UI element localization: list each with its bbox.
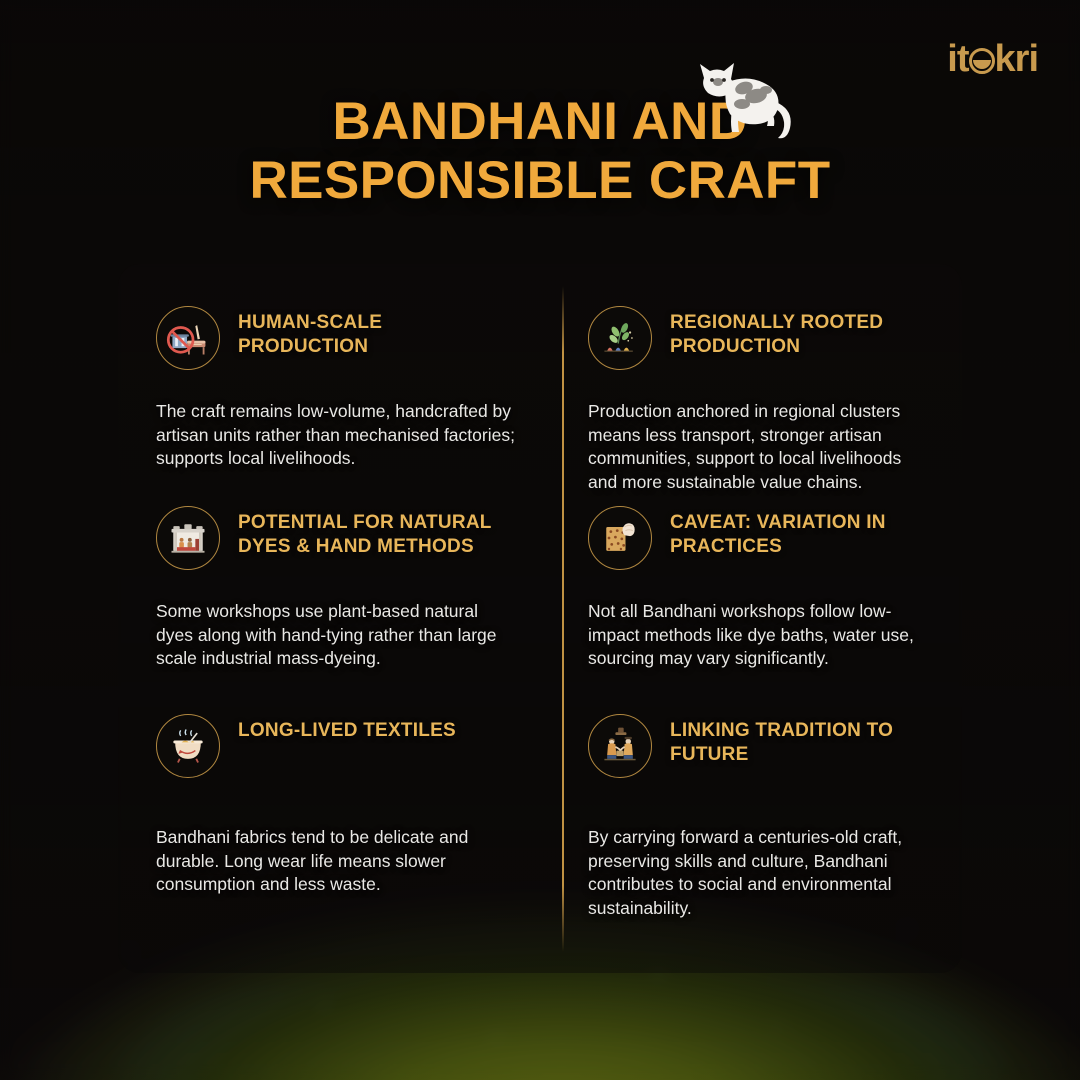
itokri-logo[interactable]: itkri [947, 40, 1038, 78]
basket-o-icon [969, 48, 995, 74]
card-header: LONG-LIVED TEXTILES [156, 712, 518, 778]
card-body: Production anchored in regional clusters… [588, 400, 928, 495]
card-title: HUMAN-SCALE PRODUCTION [238, 304, 508, 360]
logo-text-after: kri [995, 38, 1038, 80]
card-linking-tradition-to-future: LINKING TRADITION TO FUTURE By carrying … [562, 712, 962, 973]
page-title-line-1: BANDHANI AND [332, 92, 747, 151]
leaves-and-dye-powders-icon [588, 306, 652, 370]
card-long-lived-textiles: LONG-LIVED TEXTILES Bandhani fabrics ten… [118, 712, 562, 973]
hand-holding-patterned-fabric-icon [588, 506, 652, 570]
card-header: REGIONALLY ROOTED PRODUCTION [588, 304, 928, 370]
card-potential-for-natural-dyes: POTENTIAL FOR NATURAL DYES & HAND METHOD… [118, 504, 562, 712]
page-title-line-2: RESPONSIBLE CRAFT [249, 151, 830, 210]
steaming-dye-pot-icon [156, 714, 220, 778]
card-title: CAVEAT: VARIATION IN PRACTICES [670, 504, 920, 560]
content-panel: HUMAN-SCALE PRODUCTION The craft remains… [118, 264, 962, 973]
header: itkri BANDHANI AND RESPONSIBLE CRAFT [0, 0, 1080, 240]
card-caveat-variation-in-practices: CAVEAT: VARIATION IN PRACTICES Not all B… [562, 504, 962, 712]
page-title: BANDHANI AND RESPONSIBLE CRAFT [0, 92, 1080, 211]
card-body: By carrying forward a centuries-old craf… [588, 826, 928, 921]
card-body: Not all Bandhani workshops follow low-im… [588, 600, 928, 671]
card-header: LINKING TRADITION TO FUTURE [588, 712, 928, 778]
card-body: Some workshops use plant-based natural d… [156, 600, 518, 671]
card-title: REGIONALLY ROOTED PRODUCTION [670, 304, 920, 360]
card-body: The craft remains low-volume, handcrafte… [156, 400, 518, 471]
logo-text-before: it [947, 38, 968, 80]
card-human-scale-production: HUMAN-SCALE PRODUCTION The craft remains… [118, 304, 562, 504]
card-header: POTENTIAL FOR NATURAL DYES & HAND METHOD… [156, 504, 518, 570]
card-title: LINKING TRADITION TO FUTURE [670, 712, 920, 768]
cards-grid: HUMAN-SCALE PRODUCTION The craft remains… [118, 264, 962, 973]
card-body: Bandhani fabrics tend to be delicate and… [156, 826, 518, 897]
no-machine-loom-icon [156, 306, 220, 370]
two-artisans-working-icon [588, 714, 652, 778]
card-regionally-rooted-production: REGIONALLY ROOTED PRODUCTION Production … [562, 304, 962, 504]
card-title: LONG-LIVED TEXTILES [238, 712, 456, 743]
card-header: CAVEAT: VARIATION IN PRACTICES [588, 504, 928, 570]
card-title: POTENTIAL FOR NATURAL DYES & HAND METHOD… [238, 504, 508, 560]
page-title-wrap: BANDHANI AND RESPONSIBLE CRAFT [0, 92, 1080, 211]
card-header: HUMAN-SCALE PRODUCTION [156, 304, 518, 370]
artisan-workshop-building-icon [156, 506, 220, 570]
